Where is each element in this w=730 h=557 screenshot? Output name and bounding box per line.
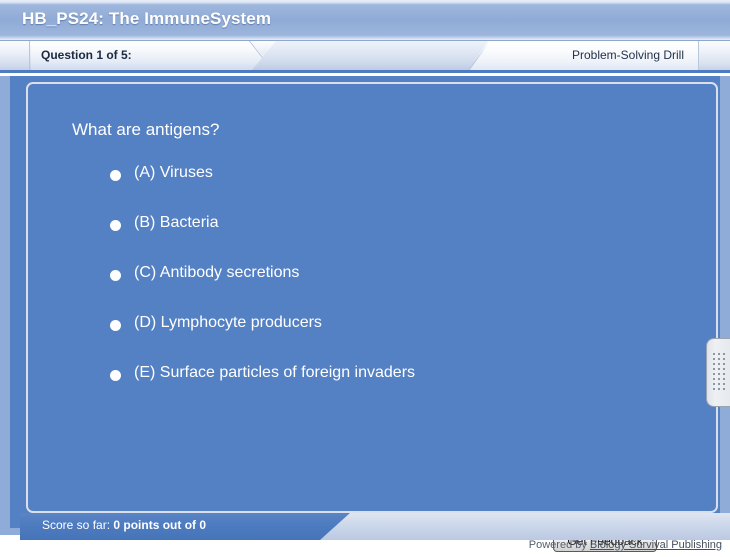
- answer-option-label: (E) Surface particles of foreign invader…: [134, 364, 415, 382]
- score-value: 0 points out of 0: [113, 518, 206, 532]
- footer: Powered by Biology Survival Publishing: [0, 539, 730, 551]
- answer-options-list: (A) Viruses (B) Bacteria (C) Antibody se…: [110, 164, 670, 414]
- content-stage: What are antigens? (A) Viruses (B) Bacte…: [0, 76, 730, 535]
- answer-option-d[interactable]: (D) Lymphocyte producers: [110, 314, 670, 364]
- answer-option-a[interactable]: (A) Viruses: [110, 164, 670, 214]
- score-label: Score so far:: [42, 518, 113, 532]
- answer-option-label: (C) Antibody secretions: [134, 264, 299, 282]
- bullet-icon: [110, 220, 121, 231]
- tab-question-counter[interactable]: Question 1 of 5:: [31, 41, 276, 70]
- content-stage-inner: What are antigens? (A) Viruses (B) Bacte…: [10, 76, 720, 528]
- title-bar: HB_PS24: The ImmuneSystem: [0, 0, 730, 41]
- drag-handle-icon[interactable]: [706, 338, 730, 407]
- question-counter-label: Question 1 of 5:: [41, 48, 132, 62]
- page-title: HB_PS24: The ImmuneSystem: [22, 9, 271, 29]
- answer-option-label: (A) Viruses: [134, 164, 213, 182]
- question-panel: What are antigens? (A) Viruses (B) Bacte…: [26, 82, 718, 513]
- grip-dots: [713, 353, 726, 394]
- answer-option-c[interactable]: (C) Antibody secretions: [110, 264, 670, 314]
- bullet-icon: [110, 270, 121, 281]
- quiz-application: HB_PS24: The ImmuneSystem Question 1 of …: [0, 0, 730, 557]
- tab-strip: Question 1 of 5: Problem-Solving Drill: [0, 41, 730, 73]
- tab-strip-right-edge: [698, 41, 730, 70]
- tab-strip-left-edge: [0, 41, 30, 70]
- bullet-icon: [110, 370, 121, 381]
- score-text: Score so far: 0 points out of 0: [42, 518, 206, 532]
- tab-strip-middle: [252, 41, 488, 70]
- footer-prefix: Powered by: [529, 539, 590, 551]
- drill-name-label: Problem-Solving Drill: [572, 48, 684, 62]
- score-bar: Score so far: 0 points out of 0: [20, 513, 730, 542]
- question-text: What are antigens?: [72, 120, 219, 140]
- bullet-icon: [110, 170, 121, 181]
- tab-drill-name[interactable]: Problem-Solving Drill: [470, 41, 698, 70]
- answer-option-label: (B) Bacteria: [134, 214, 218, 232]
- answer-option-e[interactable]: (E) Surface particles of foreign invader…: [110, 364, 670, 414]
- bullet-icon: [110, 320, 121, 331]
- answer-option-label: (D) Lymphocyte producers: [134, 314, 322, 332]
- answer-option-b[interactable]: (B) Bacteria: [110, 214, 670, 264]
- publisher-link[interactable]: Biology Survival Publishing: [590, 539, 722, 551]
